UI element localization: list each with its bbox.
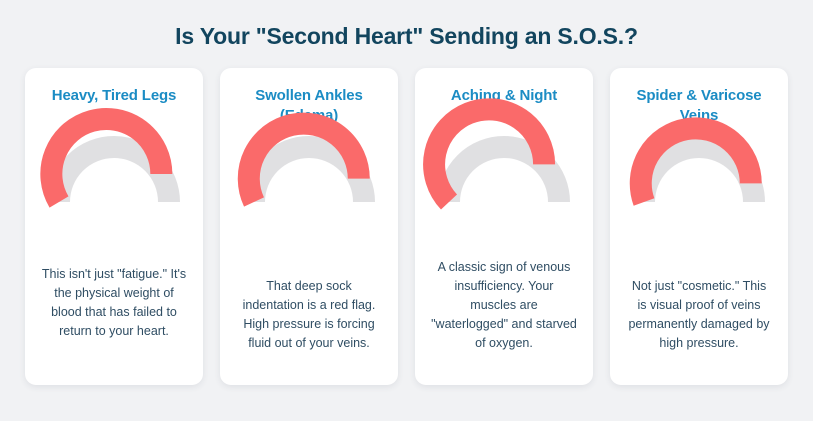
severity-gauge [633,136,765,206]
severity-gauge [243,136,375,206]
gauge-icon [243,136,375,206]
severity-gauge [438,136,570,206]
page-root: Is Your "Second Heart" Sending an S.O.S.… [0,0,813,421]
page-title: Is Your "Second Heart" Sending an S.O.S.… [0,0,813,51]
severity-gauge [48,136,180,206]
symptom-card-list: Heavy, Tired Legs This isn't just "fatig… [0,68,813,385]
gauge-icon [48,136,180,206]
symptom-card[interactable]: Heavy, Tired Legs This isn't just "fatig… [25,68,203,385]
gauge-icon [438,136,570,206]
symptom-card[interactable]: Spider & Varicose Veins Not just "cosmet… [610,68,788,385]
symptom-card-description: This isn't just "fatigue." It's the phys… [37,265,191,341]
symptom-card[interactable]: Aching & Night Cramps A classic sign of … [415,68,593,385]
symptom-card-description: A classic sign of venous insufficiency. … [427,258,581,353]
symptom-card[interactable]: Swollen Ankles (Edema) That deep sock in… [220,68,398,385]
symptom-card-description: That deep sock indentation is a red flag… [232,277,386,353]
symptom-card-description: Not just "cosmetic." This is visual proo… [622,277,776,353]
gauge-icon [633,136,765,206]
